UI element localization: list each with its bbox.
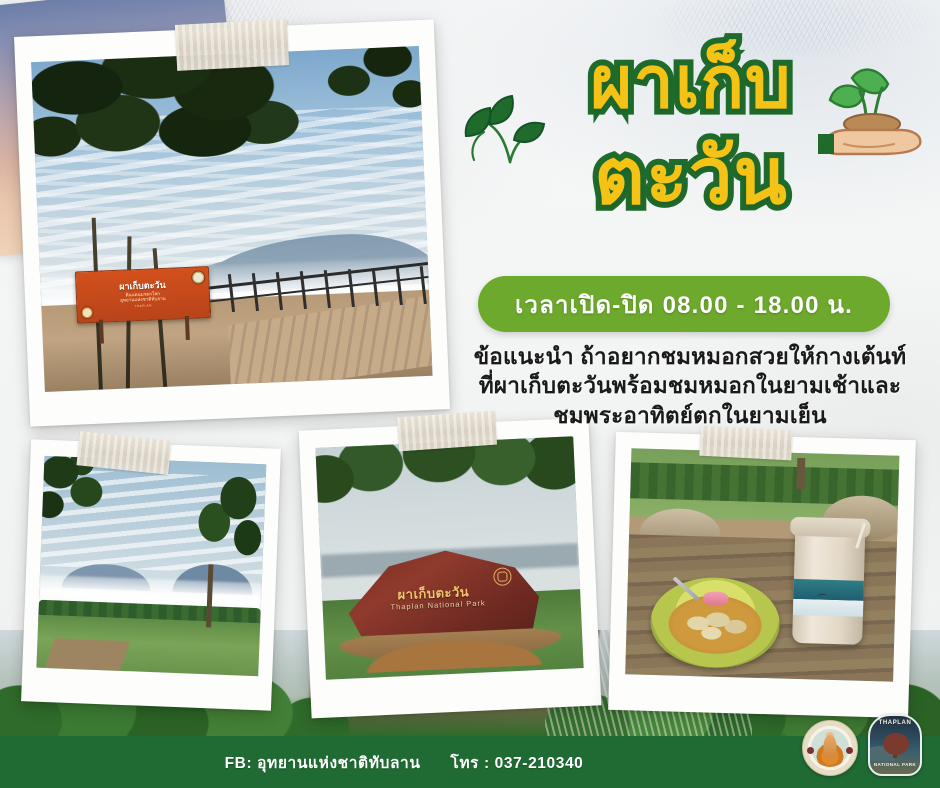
seal-figure-body — [824, 735, 837, 757]
opening-hours-text: เวลาเปิด-ปิด 08.00 - 18.00 น. — [515, 285, 853, 324]
footer-bar: FB: อุทยานแห่งชาติทับลาน โทร : 037-21034… — [0, 736, 940, 788]
p3-rock-emblem — [493, 568, 512, 587]
photo-viewpoint-hero[interactable]: ผาเก็บตะวัน ดินแดนมรดกโลกอุทยานแห่งชาติท… — [14, 19, 450, 426]
photo-rock-entrance-sign[interactable]: ผาเก็บตะวัน Thaplan National Park — [299, 418, 602, 719]
tape-photo-4 — [699, 426, 792, 461]
photo-image-hero: ผาเก็บตะวัน ดินแดนมรดกโลกอุทยานแห่งชาติท… — [31, 46, 432, 392]
p2-tree-right — [181, 466, 266, 609]
seal-dot-left — [807, 747, 814, 754]
hero-sign-sub: ดินแดนมรดกโลกอุทยานแห่งชาติทับลาน — [120, 291, 166, 304]
hero-sign-seal-left — [80, 306, 94, 320]
badge-bottom-text: NATIONAL PARK — [870, 762, 920, 767]
leaf-sprig-icon — [460, 88, 556, 174]
hero-branch-right — [294, 46, 430, 150]
footer-contact: FB: อุทยานแห่งชาติทับลาน โทร : 037-21034… — [225, 750, 584, 775]
royal-thai-government-seal-icon — [802, 720, 858, 776]
poster-canvas: ผาเก็บตะวัน ดินแดนมรดกโลกอุทยานแห่งชาติท… — [0, 0, 940, 788]
badge-tree-canopy — [883, 733, 909, 755]
badge-top-text: THAPLAN — [870, 720, 920, 726]
opening-hours-badge: เวลาเปิด-ปิด 08.00 - 18.00 น. — [478, 276, 890, 332]
thaplan-national-park-badge-icon: THAPLAN NATIONAL PARK — [868, 714, 922, 776]
p4-pink-fishcake — [703, 591, 729, 606]
tape-photo-3 — [397, 411, 497, 452]
hand-holding-seedling-icon — [818, 58, 936, 158]
p4-noodles — [681, 607, 757, 649]
p4-post — [797, 457, 806, 489]
tape-hero — [175, 19, 289, 71]
hero-sign-seal-right — [191, 270, 206, 285]
photo-noodle-soup-and-coffee[interactable] — [608, 432, 916, 718]
photo-image-2 — [36, 456, 266, 676]
description-line-2: ที่ผาเก็บตะวันพร้อมชมหมอกในยามเช้าและ — [440, 371, 940, 400]
photo-sea-of-mist-lawn[interactable] — [21, 439, 281, 710]
description-line-1: ข้อแนะนำ ถ้าอยากชมหมอกสวยให้กางเต้นท์ — [440, 342, 940, 371]
logo-group: THAPLAN NATIONAL PARK — [802, 714, 922, 776]
description-line-3: ชมพระอาทิตย์ตกในยามเย็น — [440, 401, 940, 430]
seal-dot-right — [846, 747, 853, 754]
hero-orange-sign: ผาเก็บตะวัน ดินแดนมรดกโลกอุทยานแห่งชาติท… — [75, 266, 211, 323]
hero-sign-sub2: THAPLAN — [135, 304, 152, 309]
p2-path — [45, 639, 130, 671]
footer-facebook[interactable]: FB: อุทยานแห่งชาติทับลาน — [225, 755, 421, 772]
photo-image-4 — [625, 448, 899, 681]
title-block: ผาเก็บ ตะวัน — [452, 40, 930, 270]
photo-image-3: ผาเก็บตะวัน Thaplan National Park — [315, 436, 583, 679]
p4-cup-sleeve — [793, 579, 864, 616]
footer-phone[interactable]: โทร : 037-210340 — [450, 755, 583, 772]
p2-tree-left — [36, 456, 129, 569]
p4-bird-icon — [817, 594, 828, 602]
description-text: ข้อแนะนำ ถ้าอยากชมหมอกสวยให้กางเต้นท์ ที… — [440, 342, 940, 430]
p4-coffee-cup — [792, 525, 865, 644]
p3-canopy — [315, 436, 583, 555]
